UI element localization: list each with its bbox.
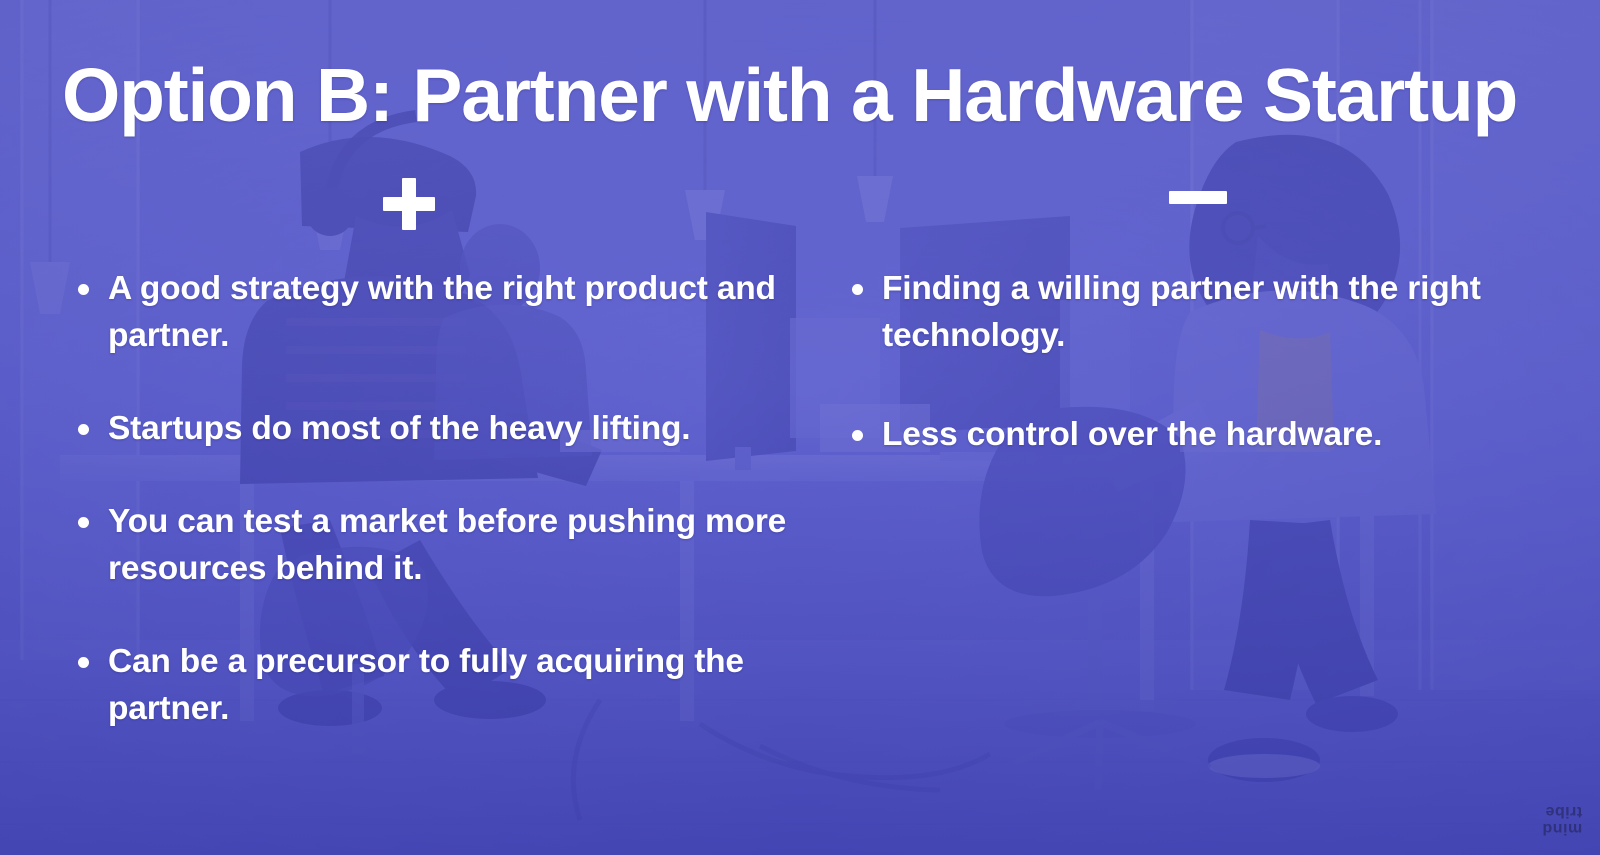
watermark-line-2: tribe (1542, 803, 1582, 820)
bullet-dot-icon (78, 657, 89, 668)
list-item-label: You can test a market before pushing mor… (108, 498, 808, 592)
list-item: You can test a market before pushing mor… (78, 498, 808, 592)
bullet-dot-icon (78, 284, 89, 295)
list-item-label: Startups do most of the heavy lifting. (108, 405, 690, 452)
bullet-dot-icon (78, 424, 89, 435)
slide-content: Option B: Partner with a Hardware Startu… (0, 0, 1600, 855)
list-item: Finding a willing partner with the right… (852, 265, 1572, 359)
list-item: Less control over the hardware. (852, 411, 1572, 458)
list-item: A good strategy with the right product a… (78, 265, 808, 359)
pros-column: A good strategy with the right product a… (78, 265, 808, 778)
bullet-dot-icon (78, 517, 89, 528)
slide-title: Option B: Partner with a Hardware Startu… (62, 52, 1542, 138)
bullet-dot-icon (852, 430, 863, 441)
brand-watermark: mind tribe (1542, 803, 1582, 837)
plus-sign-icon (383, 197, 435, 211)
cons-column: Finding a willing partner with the right… (852, 265, 1572, 510)
bullet-dot-icon (852, 284, 863, 295)
list-item: Startups do most of the heavy lifting. (78, 405, 808, 452)
list-item-label: Can be a precursor to fully acquiring th… (108, 638, 808, 732)
slide-canvas: Option B: Partner with a Hardware Startu… (0, 0, 1600, 855)
list-item-label: Less control over the hardware. (882, 411, 1382, 458)
watermark-line-1: mind (1542, 820, 1582, 837)
list-item-label: Finding a willing partner with the right… (882, 265, 1572, 359)
list-item: Can be a precursor to fully acquiring th… (78, 638, 808, 732)
minus-sign-icon (1169, 191, 1227, 204)
list-item-label: A good strategy with the right product a… (108, 265, 808, 359)
